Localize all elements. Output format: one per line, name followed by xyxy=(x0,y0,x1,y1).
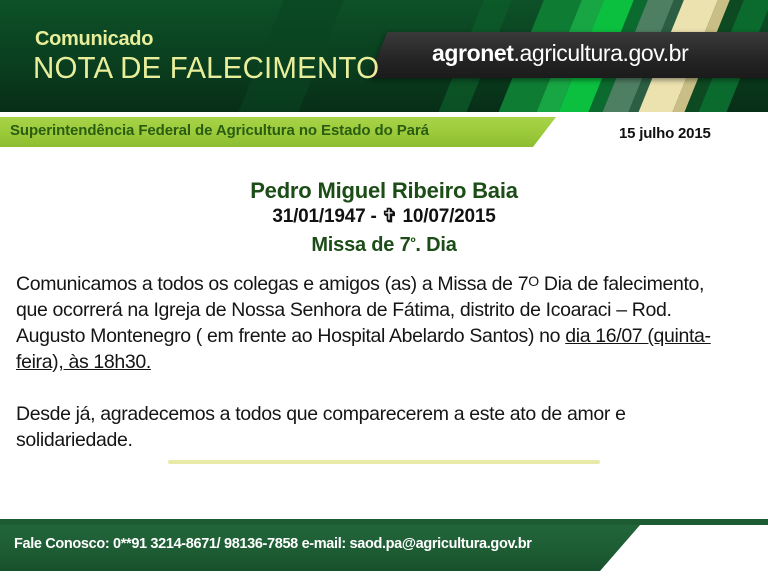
header-banner: agronet.agricultura.gov.br Comunicado NO… xyxy=(0,0,768,112)
notice-page: agronet.agricultura.gov.br Comunicado NO… xyxy=(0,0,768,576)
deceased-life-dates: 31/01/1947 - ✞ 10/07/2015 xyxy=(0,204,768,229)
mass-heading-pre: Missa de 7 xyxy=(311,234,410,256)
header-kicker: Comunicado xyxy=(35,28,153,51)
mass-heading-post: . Dia xyxy=(415,234,456,256)
paragraph-announcement: Comunicamos a todos os colegas e amigos … xyxy=(16,268,716,375)
paragraph-spacer xyxy=(16,375,716,401)
paragraph-1-part-a: Comunicamos a todos os colegas e amigos … xyxy=(16,273,528,295)
header-title: NOTA DE FALECIMENTO xyxy=(33,50,379,86)
footer-top-rule xyxy=(0,519,768,525)
paragraph-thanks: Desde já, agradecemos a todos que compar… xyxy=(16,401,716,453)
paragraph-1-ordinal: O xyxy=(528,273,539,289)
notice-body: Comunicamos a todos os colegas e amigos … xyxy=(16,268,716,453)
notice-title-block: Pedro Miguel Ribeiro Baia 31/01/1947 - ✞… xyxy=(0,178,768,258)
site-url-label[interactable]: agronet.agricultura.gov.br xyxy=(432,40,688,67)
deceased-name: Pedro Miguel Ribeiro Baia xyxy=(0,178,768,204)
footer-contact-text[interactable]: Fale Conosco: 0**91 3214-8671/ 98136-785… xyxy=(14,536,532,552)
site-brand-text: agronet xyxy=(432,40,514,66)
mass-heading: Missa de 7º. Dia xyxy=(0,229,768,258)
document-date: 15 julho 2015 xyxy=(619,125,711,142)
organization-label: Superintendência Federal de Agricultura … xyxy=(10,122,429,139)
site-domain-text: .agricultura.gov.br xyxy=(514,40,689,66)
yellow-divider xyxy=(168,460,600,464)
